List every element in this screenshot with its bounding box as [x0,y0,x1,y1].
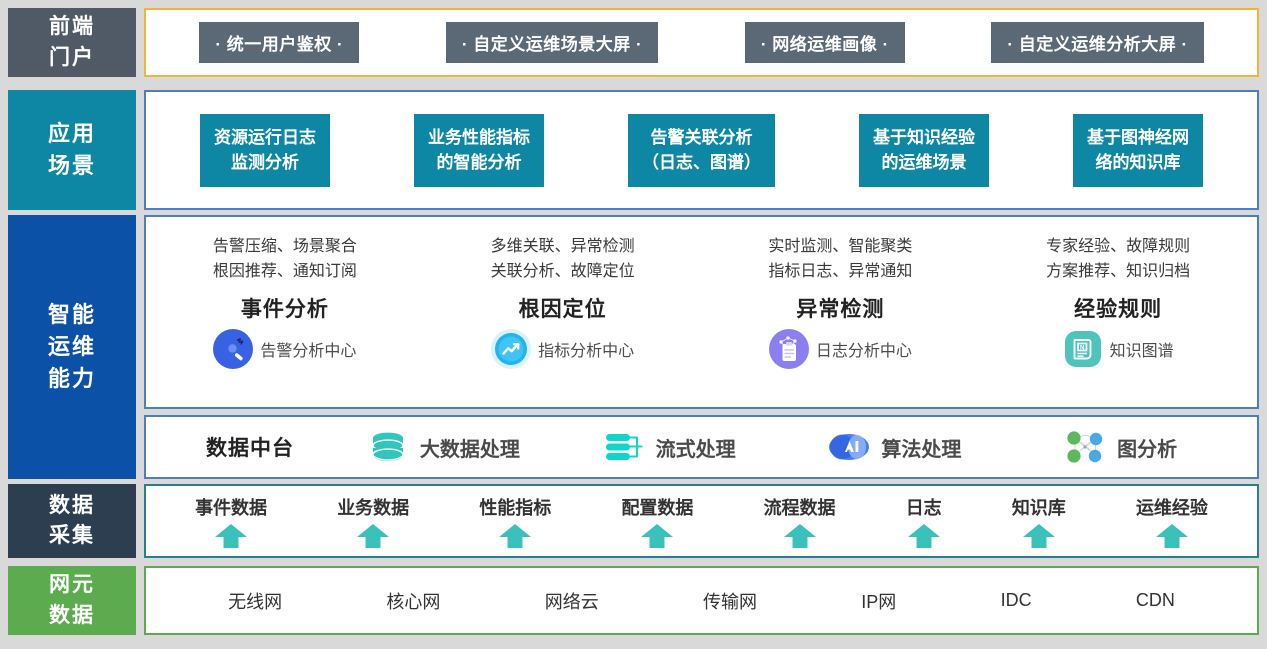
row-label-line: 前端 [49,12,95,42]
row-label-line: 数据 [49,601,95,631]
capability-feature-line: 关联分析、故障定位 [429,260,696,285]
ne-item-core[interactable]: 核心网 [386,588,440,614]
row-label-line: 网元 [49,570,95,600]
ne-item-wireless[interactable]: 无线网 [228,588,282,614]
capability-product[interactable]: 日志分析中心 [707,329,974,369]
architecture-diagram: 前端 门户 · 统一用户鉴权 · · 自定义运维场景大屏 · · 网络运维画像 … [0,0,1267,649]
knowledge-graph-icon: N [1063,329,1103,369]
capability-feature-line: 专家经验、故障规则 [985,235,1252,260]
arrow-up-icon [356,523,390,549]
dm-item-label: 流式处理 [656,433,736,462]
arrow-up-icon [1155,523,1189,549]
scenario-line: 资源运行日志 [214,125,316,151]
scenario-line: 业务性能指标 [428,125,530,151]
collect-item-label: 运维经验 [1136,494,1208,520]
ne-item-cdn[interactable]: CDN [1136,590,1175,611]
capability-feature-line: 多维关联、异常检测 [429,235,696,260]
capability-product-name: 日志分析中心 [816,337,912,361]
collect-item-label: 日志 [906,494,942,520]
capability-title: 经验规则 [985,293,1252,323]
data-middle-platform-panel: 数据中台 大数据处理 [144,415,1259,479]
collect-item-performance-kpi[interactable]: 性能指标 [479,494,551,549]
database-icon [366,425,410,469]
row-aiops-capability: 智能 运维 能力 告警压缩、场景聚合 根因推荐、通知订阅 事件分析 [8,215,1259,479]
capability-title: 异常检测 [707,293,974,323]
ne-item-idc[interactable]: IDC [1001,590,1032,611]
scenario-line: 的智能分析 [428,150,530,176]
ai-icon [827,425,871,469]
row-label-application-scenarios: 应用 场景 [8,90,136,210]
arrow-up-icon [1022,523,1056,549]
row-label-line: 门户 [49,43,95,73]
capability-product[interactable]: 告警分析中心 [152,329,419,369]
scenario-line: 基于知识经验 [873,125,975,151]
ne-item-network-cloud[interactable]: 网络云 [545,588,599,614]
dm-item-label: 图分析 [1117,433,1177,462]
capability-product-name: 指标分析中心 [538,337,634,361]
svg-text:N: N [1080,344,1085,351]
capability-column-anomaly-detection: 实时监测、智能聚类 指标日志、异常通知 异常检测 [707,235,974,369]
capability-column-root-cause: 多维关联、异常检测 关联分析、故障定位 根因定位 指标分析中心 [429,235,696,369]
row-label-line: 采集 [49,521,95,551]
capability-feature-line: 根因推荐、通知订阅 [152,260,419,285]
arrow-up-icon [907,523,941,549]
scenario-line: （日志、图谱） [642,150,761,176]
log-analysis-icon [769,329,809,369]
capability-column-experience-rules: 专家经验、故障规则 方案推荐、知识归档 经验规则 N 知识图谱 [985,235,1252,369]
row-label-line: 场景 [48,150,96,182]
row-label-line: 运维 [48,331,96,363]
row-label-front-portal: 前端 门户 [8,8,136,77]
portal-chip-custom-analysis-dashboard[interactable]: · 自定义运维分析大屏 · [991,22,1203,63]
collect-item-label: 性能指标 [479,494,551,520]
collect-item-label: 事件数据 [195,494,267,520]
row-label-line: 数据 [49,491,95,521]
scenario-card-graph-neural-network[interactable]: 基于图神经网 络的知识库 [1073,114,1203,187]
scenario-card-business-kpi[interactable]: 业务性能指标 的智能分析 [414,114,544,187]
dm-item-graph-analysis[interactable]: 图分析 [1007,425,1233,469]
row-label-line: 智能 [48,299,96,331]
capability-panel: 告警压缩、场景聚合 根因推荐、通知订阅 事件分析 告警分析中心 [144,215,1259,409]
network-element-panel: 无线网 核心网 网络云 传输网 IP网 IDC CDN [144,566,1259,635]
collect-item-label: 流程数据 [764,494,836,520]
collect-item-log[interactable]: 日志 [906,494,942,549]
dm-item-big-data[interactable]: 大数据处理 [330,425,556,469]
scenario-line: 的运维场景 [873,150,975,176]
portal-chip-network-ops-profile[interactable]: · 网络运维画像 · [745,22,905,63]
scenario-card-resource-log[interactable]: 资源运行日志 监测分析 [200,114,330,187]
capability-title: 事件分析 [152,293,419,323]
application-scenarios-panel: 资源运行日志 监测分析 业务性能指标 的智能分析 告警关联分析 （日志、图谱） … [144,90,1259,210]
data-middle-platform-title: 数据中台 [170,432,330,462]
dm-item-label: 大数据处理 [420,433,520,462]
row-network-element-data: 网元 数据 无线网 核心网 网络云 传输网 IP网 IDC CDN [8,566,1259,635]
dm-item-label: 算法处理 [881,433,961,462]
arrow-up-icon [498,523,532,549]
row-label-network-element-data: 网元 数据 [8,566,136,635]
scenario-card-knowledge-experience[interactable]: 基于知识经验 的运维场景 [859,114,989,187]
capability-product-name: 告警分析中心 [260,337,356,361]
capability-column-event-analysis: 告警压缩、场景聚合 根因推荐、通知订阅 事件分析 告警分析中心 [152,235,419,369]
capability-product-name: 知识图谱 [1110,337,1174,361]
graph-network-icon [1063,425,1107,469]
collect-item-knowledge-base[interactable]: 知识库 [1012,494,1066,549]
row-label-data-collection: 数据 采集 [8,484,136,558]
scenario-line: 络的知识库 [1087,150,1189,176]
capability-product[interactable]: N 知识图谱 [985,329,1252,369]
scenario-line: 监测分析 [214,150,316,176]
portal-chip-unified-auth[interactable]: · 统一用户鉴权 · [199,22,359,63]
row-data-collection: 数据 采集 事件数据 业务数据 性能指标 配置数据 流程数据 [8,484,1259,558]
ne-item-transport[interactable]: 传输网 [703,588,757,614]
collect-item-ops-experience[interactable]: 运维经验 [1136,494,1208,549]
arrow-up-icon [214,523,248,549]
collect-item-label: 业务数据 [337,494,409,520]
ne-item-ip[interactable]: IP网 [861,588,896,614]
capability-feature-line: 方案推荐、知识归档 [985,260,1252,285]
capability-feature-line: 实时监测、智能聚类 [707,235,974,260]
scenario-line: 告警关联分析 [642,125,761,151]
collect-item-event-data[interactable]: 事件数据 [195,494,267,549]
row-application-scenarios: 应用 场景 资源运行日志 监测分析 业务性能指标 的智能分析 告警关联分析 （日… [8,90,1259,210]
stream-icon [602,425,646,469]
capability-product[interactable]: 指标分析中心 [429,329,696,369]
arrow-up-icon [783,523,817,549]
collect-item-config-data[interactable]: 配置数据 [621,494,693,549]
capability-feature-line: 指标日志、异常通知 [707,260,974,285]
aiops-stack: 告警压缩、场景聚合 根因推荐、通知订阅 事件分析 告警分析中心 [144,215,1259,479]
front-portal-panel: · 统一用户鉴权 · · 自定义运维场景大屏 · · 网络运维画像 · · 自定… [144,8,1259,77]
alert-analysis-icon [213,329,253,369]
scenario-card-alarm-correlation[interactable]: 告警关联分析 （日志、图谱） [628,114,775,187]
capability-title: 根因定位 [429,293,696,323]
scenario-line: 基于图神经网 [1087,125,1189,151]
arrow-up-icon [640,523,674,549]
portal-chip-custom-ops-dashboard[interactable]: · 自定义运维场景大屏 · [446,22,658,63]
capability-feature-line: 告警压缩、场景聚合 [152,235,419,260]
collect-item-business-data[interactable]: 业务数据 [337,494,409,549]
collect-item-label: 知识库 [1012,494,1066,520]
row-label-aiops-capability: 智能 运维 能力 [8,215,136,479]
collect-item-process-data[interactable]: 流程数据 [764,494,836,549]
dm-item-stream[interactable]: 流式处理 [556,425,782,469]
row-front-portal: 前端 门户 · 统一用户鉴权 · · 自定义运维场景大屏 · · 网络运维画像 … [8,8,1259,77]
row-label-line: 能力 [48,363,96,395]
metric-analysis-icon [491,329,531,369]
data-collection-panel: 事件数据 业务数据 性能指标 配置数据 流程数据 日志 [144,484,1259,558]
row-label-line: 应用 [48,118,96,150]
collect-item-label: 配置数据 [621,494,693,520]
dm-item-algorithm[interactable]: 算法处理 [782,425,1008,469]
